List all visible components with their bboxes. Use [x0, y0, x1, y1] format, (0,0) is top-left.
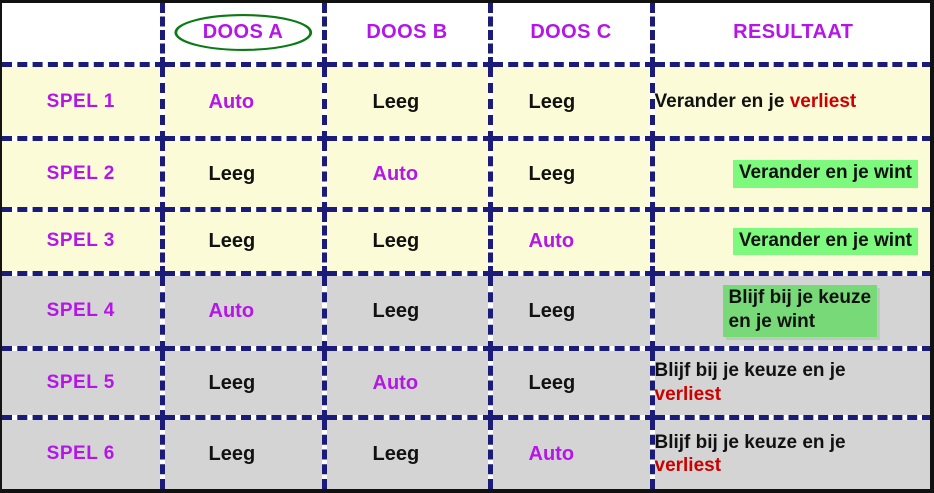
table-row: SPEL 1 Auto Leeg Leeg Verander en je ver… — [2, 65, 932, 139]
header-corner-cell — [2, 3, 162, 65]
row-label: SPEL 1 — [2, 91, 160, 113]
row-label-cell: SPEL 6 — [2, 417, 162, 489]
win-badge: Verander en je wint — [733, 160, 918, 188]
win-badge-line1: Blijf bij je keuze — [729, 287, 872, 308]
cell-resultaat: Blijf bij je keuze en jeverliest — [652, 348, 932, 417]
result-emphasis: verliest — [655, 384, 722, 405]
table-row: SPEL 4 Auto Leeg Leeg Blijf bij je keuze… — [2, 273, 932, 348]
table-row: SPEL 5 Leeg Auto Leeg Blijf bij je keuze… — [2, 348, 932, 417]
result-prefix: Verander en je — [655, 91, 790, 112]
row-label-cell: SPEL 4 — [2, 273, 162, 348]
cell-resultaat: Blijf bij je keuze en jeverliest — [652, 417, 932, 489]
result-text: Verander en je wint — [655, 160, 933, 188]
row-label-cell: SPEL 3 — [2, 210, 162, 274]
header-cell-doos-a: DOOS A — [162, 3, 324, 65]
row-label-cell: SPEL 5 — [2, 348, 162, 417]
win-badge-line2: en je wint — [729, 311, 816, 332]
win-badge: Verander en je wint — [733, 228, 918, 256]
cell-doos-b: Auto — [324, 139, 490, 210]
result-prefix: Blijf bij je keuze en je — [655, 360, 846, 381]
result-emphasis: verliest — [655, 455, 722, 476]
cell-resultaat: Verander en je wint — [652, 139, 932, 210]
box-content-b: Auto — [327, 372, 488, 394]
table-header-row: DOOS A DOOS B DOOS C RESULTAAT — [2, 3, 932, 65]
cell-doos-a: Leeg — [162, 139, 324, 210]
cell-doos-c: Auto — [490, 417, 652, 489]
cell-resultaat: Verander en je wint — [652, 210, 932, 274]
box-content-c: Leeg — [493, 300, 650, 322]
box-content-c: Leeg — [493, 163, 650, 185]
row-label-cell: SPEL 1 — [2, 65, 162, 139]
cell-doos-c: Leeg — [490, 273, 652, 348]
box-content-c: Leeg — [493, 372, 650, 394]
result-text: Blijf bij je keuze en jeverliest — [655, 431, 933, 479]
box-content-c: Leeg — [493, 91, 650, 113]
box-content-a: Leeg — [165, 230, 322, 252]
box-content-b: Leeg — [327, 91, 488, 113]
cell-resultaat: Blijf bij je keuzeen je wint — [652, 273, 932, 348]
box-content-a: Leeg — [165, 443, 322, 465]
header-label-doos-c: DOOS C — [493, 21, 650, 44]
header-cell-doos-c: DOOS C — [490, 3, 652, 65]
table-row: SPEL 3 Leeg Leeg Auto Verander en je win… — [2, 210, 932, 274]
row-label: SPEL 2 — [2, 163, 160, 185]
outcome-grid: DOOS A DOOS B DOOS C RESULTAAT SPEL 1 — [2, 3, 932, 489]
result-text: Blijf bij je keuze en jeverliest — [655, 359, 933, 407]
cell-doos-c: Leeg — [490, 348, 652, 417]
box-content-b: Leeg — [327, 443, 488, 465]
result-text: Blijf bij je keuzeen je wint — [655, 285, 933, 337]
cell-doos-c: Leeg — [490, 139, 652, 210]
header-label-resultaat: RESULTAAT — [655, 21, 933, 44]
ellipse-highlight-icon: DOOS A — [173, 13, 314, 52]
cell-doos-b: Leeg — [324, 273, 490, 348]
cell-doos-a: Auto — [162, 65, 324, 139]
result-text: Verander en je verliest — [655, 90, 933, 114]
table-row: SPEL 6 Leeg Leeg Auto Blijf bij je keuze… — [2, 417, 932, 489]
header-label-doos-a: DOOS A — [203, 21, 284, 43]
box-content-b: Auto — [327, 163, 488, 185]
cell-doos-a: Auto — [162, 273, 324, 348]
row-label-cell: SPEL 2 — [2, 139, 162, 210]
cell-doos-b: Auto — [324, 348, 490, 417]
header-cell-resultaat: RESULTAAT — [652, 3, 932, 65]
box-content-a: Auto — [165, 91, 322, 113]
header-label-doos-b: DOOS B — [327, 21, 488, 44]
cell-doos-a: Leeg — [162, 348, 324, 417]
cell-resultaat: Verander en je verliest — [652, 65, 932, 139]
box-content-b: Leeg — [327, 300, 488, 322]
row-label: SPEL 3 — [2, 230, 160, 252]
win-badge: Blijf bij je keuzeen je wint — [723, 285, 878, 337]
result-emphasis: verliest — [790, 91, 857, 112]
cell-doos-c: Auto — [490, 210, 652, 274]
header-cell-doos-b: DOOS B — [324, 3, 490, 65]
cell-doos-c: Leeg — [490, 65, 652, 139]
cell-doos-a: Leeg — [162, 417, 324, 489]
cell-doos-b: Leeg — [324, 65, 490, 139]
box-content-a: Leeg — [165, 372, 322, 394]
result-text: Verander en je wint — [655, 228, 933, 256]
box-content-a: Auto — [165, 300, 322, 322]
cell-doos-b: Leeg — [324, 210, 490, 274]
box-content-c: Auto — [493, 230, 650, 252]
cell-doos-b: Leeg — [324, 417, 490, 489]
cell-doos-a: Leeg — [162, 210, 324, 274]
row-label: SPEL 6 — [2, 443, 160, 465]
box-content-b: Leeg — [327, 230, 488, 252]
row-label: SPEL 5 — [2, 372, 160, 394]
row-label: SPEL 4 — [2, 300, 160, 322]
result-prefix: Blijf bij je keuze en je — [655, 432, 846, 453]
table-row: SPEL 2 Leeg Auto Leeg Verander en je win… — [2, 139, 932, 210]
montyhall-outcome-table: DOOS A DOOS B DOOS C RESULTAAT SPEL 1 — [0, 0, 934, 493]
box-content-a: Leeg — [165, 163, 322, 185]
box-content-c: Auto — [493, 443, 650, 465]
